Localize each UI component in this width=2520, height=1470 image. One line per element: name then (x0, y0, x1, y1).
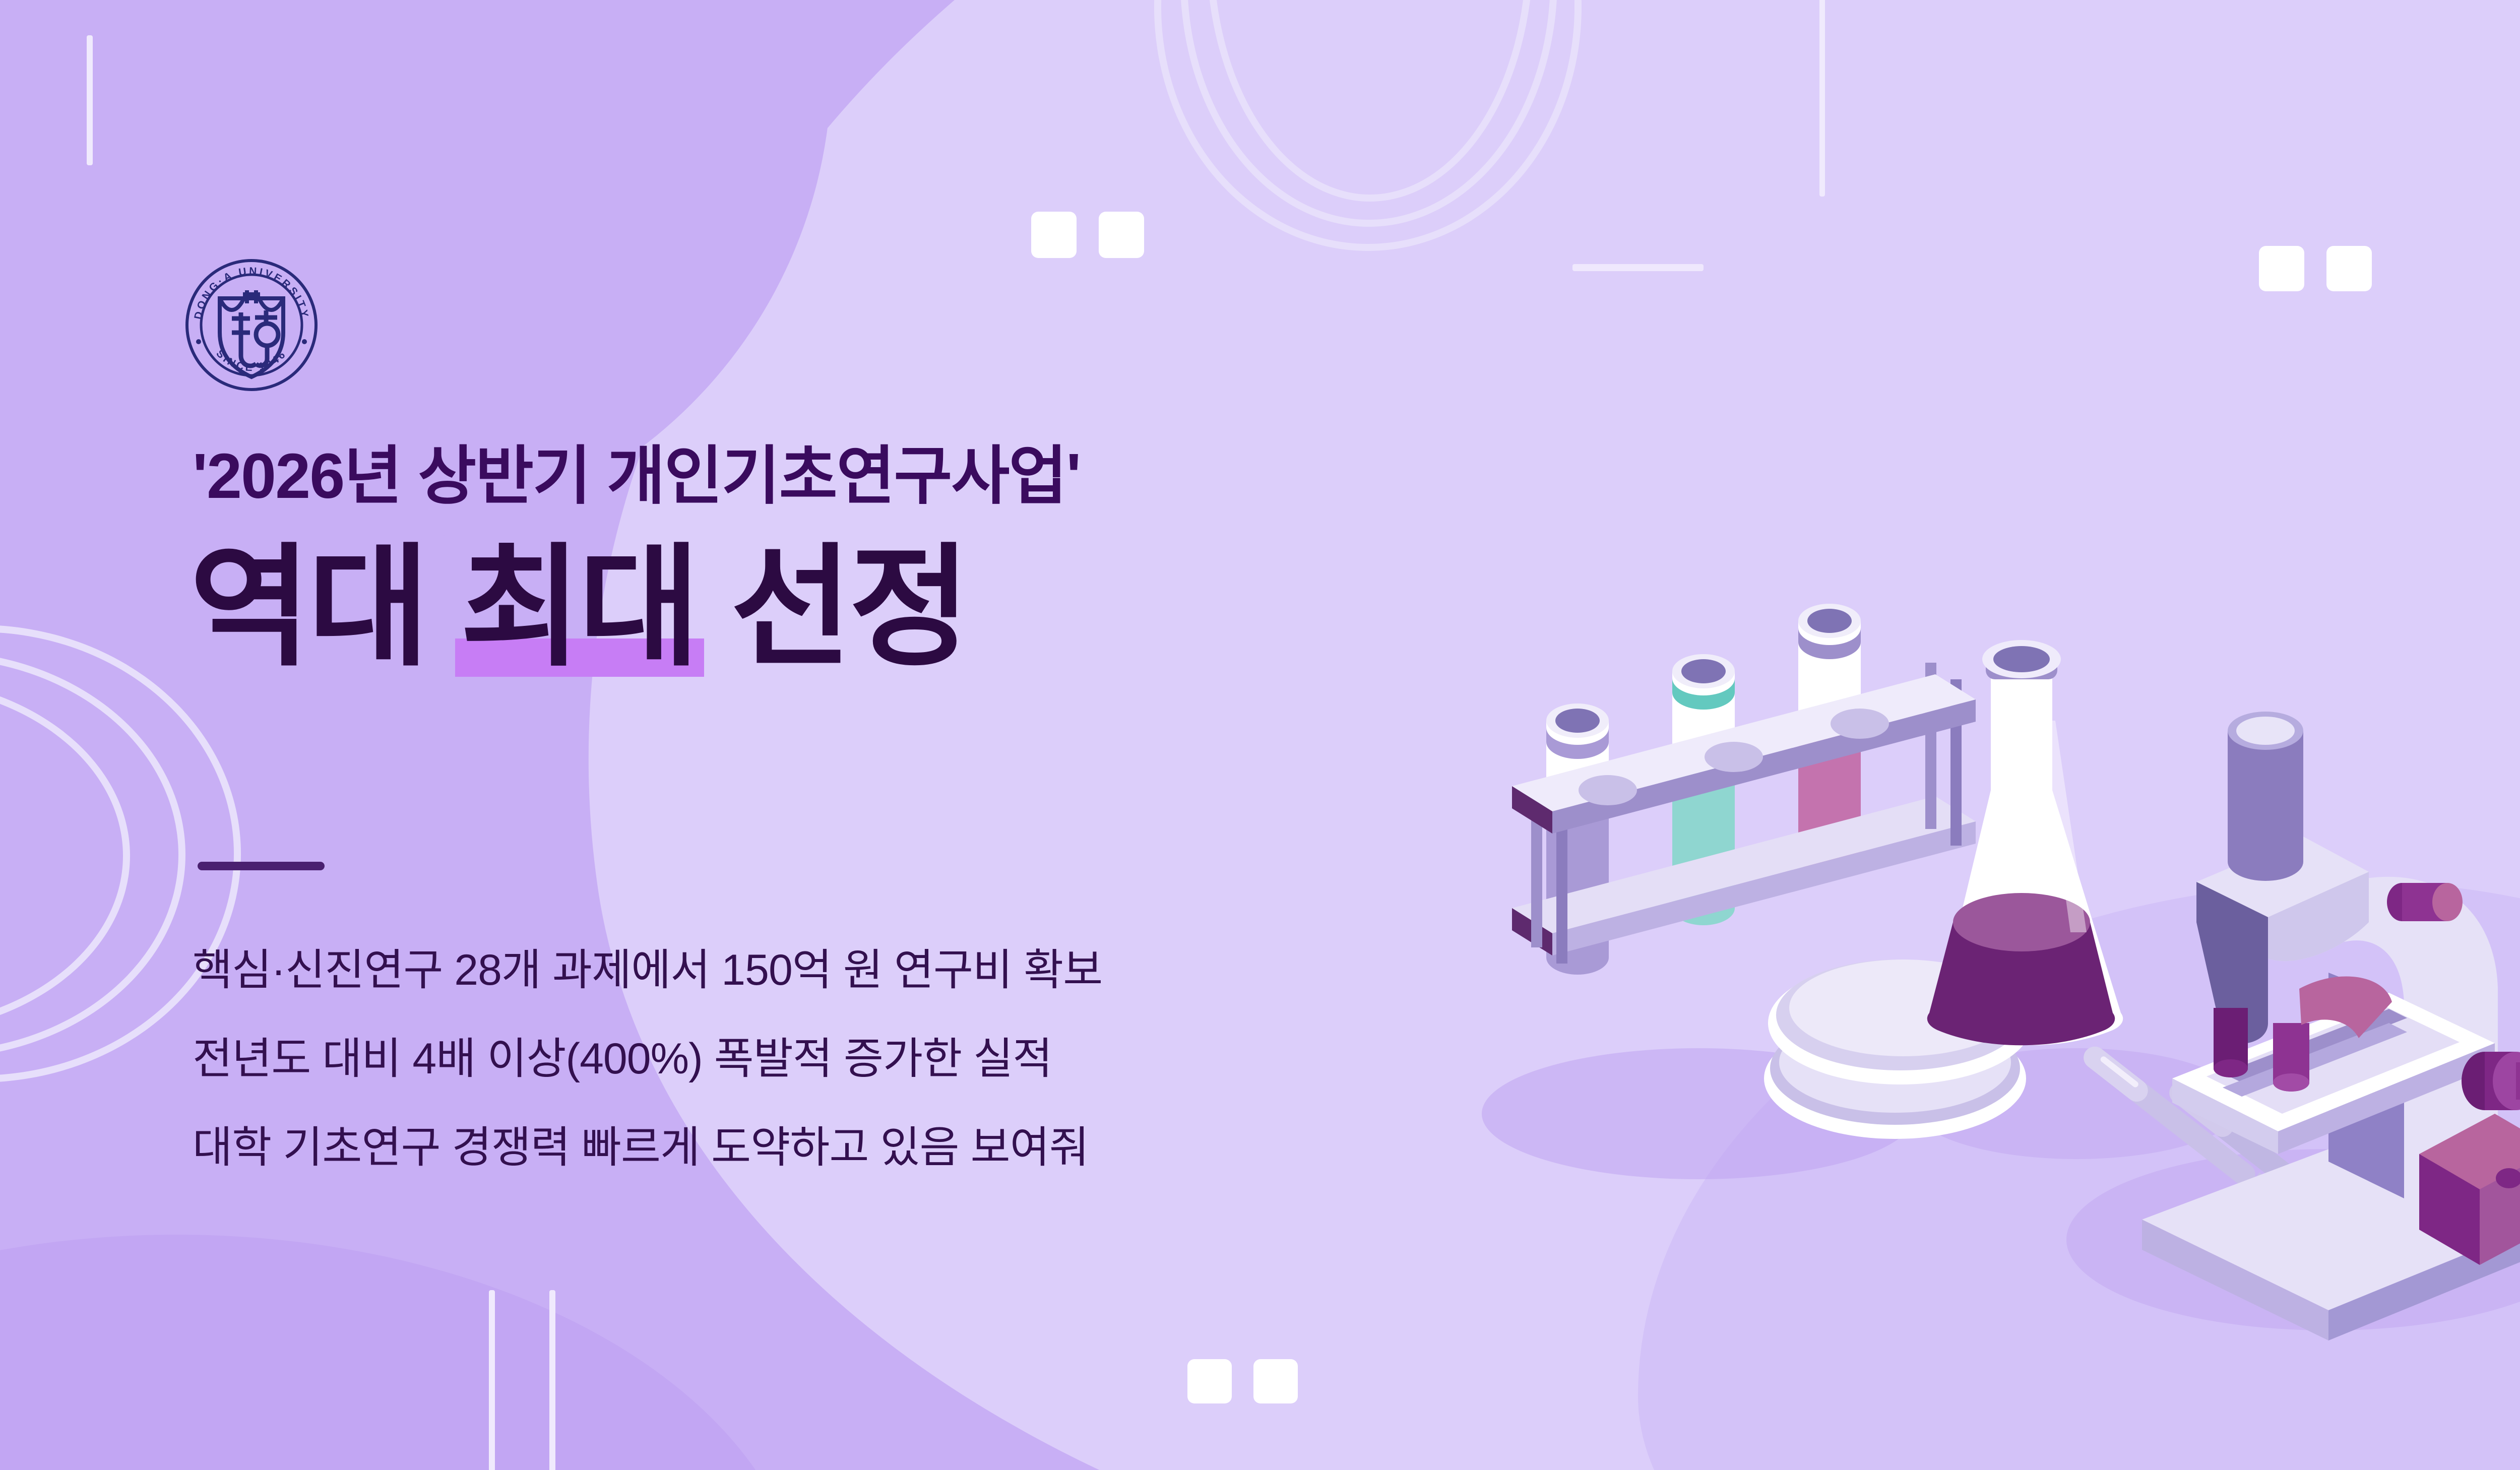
body-line-2: 전년도 대비 4배 이상(400%) 폭발적 증가한 실적 (193, 1023, 1052, 1086)
decor-vline-bottomleft-b (549, 1290, 555, 1470)
decor-vline-topleft (87, 35, 93, 165)
decor-vline-bottomleft-a (489, 1290, 495, 1470)
promotional-banner: DONG·A UNIVERSITY SINCE 1946 '2026년 상반기 … (0, 0, 2520, 1470)
decor-square-bottom-a (1187, 1359, 1232, 1403)
test-tube-rack (1512, 604, 1976, 975)
microscope (2142, 712, 2520, 1340)
decor-square-topright-a (2259, 246, 2304, 291)
decor-square-bottom-b (1253, 1359, 1298, 1403)
decor-square-topright-b (2326, 246, 2372, 291)
body-line-3: 대학 기초연구 경쟁력 빠르게 도약하고 있음 보여줘 (193, 1112, 1089, 1175)
decor-hline-right (1572, 264, 1704, 271)
headline: 역대 최대 선정 (190, 542, 968, 674)
decor-vline-topright (1819, 0, 1825, 197)
headline-part-1: 역대 (190, 534, 460, 681)
section-divider (198, 862, 325, 870)
laboratory-illustration (1482, 569, 2520, 1366)
logo-bottom-text: SINCE 1946 (214, 348, 289, 373)
decor-arcs-top (1154, 0, 1648, 257)
decor-arcs-left (0, 625, 222, 1078)
kicker-text: '2026년 상반기 개인기초연구사업' (193, 425, 1080, 517)
body-line-1: 핵심·신진연구 28개 과제에서 150억 원 연구비 확보 (193, 934, 1102, 997)
decor-square-top-a (1031, 212, 1077, 258)
headline-highlighted-word: 최대 (460, 542, 697, 674)
university-logo: DONG·A UNIVERSITY SINCE 1946 (183, 257, 320, 393)
decor-square-top-b (1099, 212, 1144, 258)
headline-part-2: 선정 (697, 534, 968, 681)
